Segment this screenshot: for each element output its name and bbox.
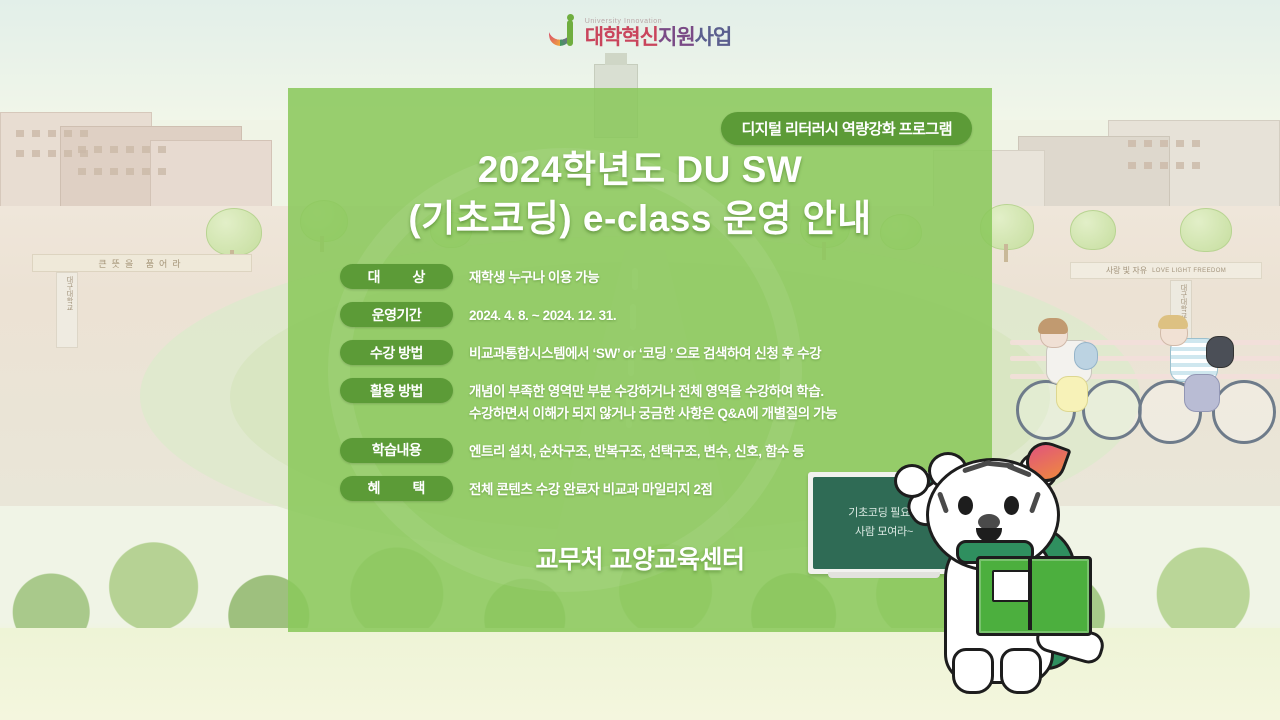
info-row-value-line: 2024. 4. 8. ~ 2024. 12. 31. [469, 305, 616, 327]
tiger-mascot [900, 440, 1115, 695]
poster-root: 큰뜻을 품어라 대구대학교 사랑 빛 자유 LOVE LIGHT FREEDOM… [0, 0, 1280, 720]
logo-korean-label: 대학혁신지원사업 [585, 27, 732, 48]
tree-trunk [1004, 244, 1008, 262]
info-row-value: 재학생 누구나 이용 가능 [469, 264, 599, 289]
tree [1070, 210, 1116, 250]
gate-left-pillar-text: 대구대학교 [58, 276, 74, 311]
gate-right-sign-en: LOVE LIGHT FREEDOM [1152, 268, 1226, 274]
info-row: 대 상 재학생 누구나 이용 가능 [340, 264, 960, 289]
logo-kr-part-c: 사업 [695, 26, 732, 49]
cyclist-backpack [1206, 336, 1234, 368]
logo-j-stroke-icon [567, 20, 573, 46]
cyclist-backpack [1074, 342, 1098, 370]
computer-screen-icon [992, 570, 1030, 602]
info-row: 수강 방법 비교과통합시스템에서 ‘SW’ or ‘코딩 ’ 으로 검색하여 신… [340, 340, 960, 365]
mascot-leg-left [952, 648, 994, 694]
bicycle-wheel [1212, 380, 1276, 444]
mascot-leg-right [1000, 648, 1042, 694]
window-row [1128, 140, 1200, 147]
cyclist-hair [1158, 315, 1188, 329]
mascot-eye-left [958, 496, 973, 515]
info-row: 운영기간 2024. 4. 8. ~ 2024. 12. 31. [340, 302, 960, 327]
building-left-3 [150, 140, 272, 214]
info-row-label: 혜 택 [340, 476, 453, 501]
info-row-value-line: 수강하면서 이해가 되지 않거나 궁금한 사항은 Q&A에 개별질의 가능 [469, 403, 837, 425]
info-row-value: 전체 콘텐츠 수강 완료자 비교과 마일리지 2점 [469, 476, 713, 501]
window-row [16, 130, 88, 137]
cyclist-right [1138, 318, 1278, 444]
info-row-value: 비교과통합시스템에서 ‘SW’ or ‘코딩 ’ 으로 검색하여 신청 후 수강 [469, 340, 821, 365]
window-row [78, 168, 166, 175]
info-row-label: 활용 방법 [340, 378, 453, 403]
info-row-value-line: 엔트리 설치, 순차구조, 반복구조, 선택구조, 변수, 신호, 함수 등 [469, 441, 804, 463]
info-row-label: 수강 방법 [340, 340, 453, 365]
tree [1180, 208, 1232, 252]
info-row-value: 개념이 부족한 영역만 부분 수강하거나 전체 영역을 수강하여 학습. 수강하… [469, 378, 837, 425]
page-title: 2024학년도 DU SW (기초코딩) e-class 운영 안내 [288, 146, 992, 244]
info-row-label: 학습내용 [340, 438, 453, 463]
mascot-paw [894, 464, 930, 498]
info-row: 학습내용 엔트리 설치, 순차구조, 반복구조, 선택구조, 변수, 신호, 함… [340, 438, 960, 463]
logo-mark-icon [549, 14, 579, 48]
logo-dot-icon [567, 14, 574, 21]
gate-right-sign-kr: 사랑 빛 자유 [1106, 265, 1147, 276]
program-badge: 디지털 리터러시 역량강화 프로그램 [721, 112, 972, 145]
gate-left-sign: 큰뜻을 품어라 [32, 254, 252, 272]
cyclist-legs [1184, 374, 1220, 412]
logo-text-block: University Innovation 대학혁신지원사업 [585, 18, 732, 48]
info-row-value: 엔트리 설치, 순차구조, 반복구조, 선택구조, 변수, 신호, 함수 등 [469, 438, 804, 463]
university-innovation-logo: University Innovation 대학혁신지원사업 [549, 14, 732, 48]
gate-left-sign-text: 큰뜻을 품어라 [98, 257, 185, 270]
page-title-line-1: 2024학년도 DU SW [288, 146, 992, 195]
info-row-label: 운영기간 [340, 302, 453, 327]
mascot-eye-right [1004, 496, 1019, 515]
window-row [1128, 162, 1200, 169]
info-row-value-line: 재학생 누구나 이용 가능 [469, 267, 599, 289]
info-row-value-line: 비교과통합시스템에서 ‘SW’ or ‘코딩 ’ 으로 검색하여 신청 후 수강 [469, 343, 821, 365]
cyclist-legs [1056, 376, 1088, 412]
gate-right-pillar-text: 대구대학교 [1172, 284, 1188, 319]
logo-kr-part-b: 지원 [658, 26, 695, 49]
info-row-value-line: 전체 콘텐츠 수강 완료자 비교과 마일리지 2점 [469, 479, 713, 501]
cyclist-left [1012, 322, 1142, 442]
header: University Innovation 대학혁신지원사업 [0, 0, 1280, 62]
info-row: 활용 방법 개념이 부족한 영역만 부분 수강하거나 전체 영역을 수강하여 학… [340, 378, 960, 425]
logo-kr-part-a: 대학혁신 [585, 26, 658, 49]
page-title-line-2: (기초코딩) e-class 운영 안내 [288, 195, 992, 244]
window-row [78, 146, 166, 153]
info-row-value: 2024. 4. 8. ~ 2024. 12. 31. [469, 302, 616, 327]
cyclist-hair [1038, 318, 1068, 334]
gate-right-sign: 사랑 빛 자유 LOVE LIGHT FREEDOM [1070, 262, 1262, 279]
logo-english-label: University Innovation [585, 18, 732, 25]
info-row-label: 대 상 [340, 264, 453, 289]
info-row-value-line: 개념이 부족한 영역만 부분 수강하거나 전체 영역을 수강하여 학습. [469, 381, 837, 403]
tree [206, 208, 262, 256]
bicycle-wheel [1082, 380, 1142, 440]
